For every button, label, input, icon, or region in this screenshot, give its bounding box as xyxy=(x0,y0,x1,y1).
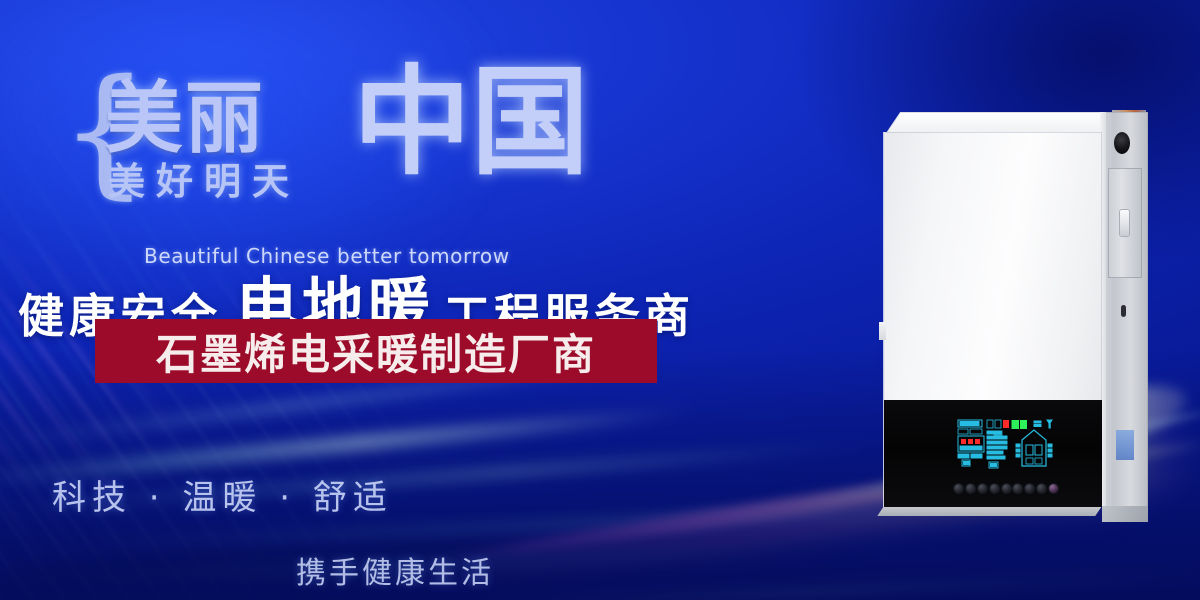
product-left-tab xyxy=(879,322,886,340)
product-side-slot xyxy=(1116,430,1134,460)
tagline-primary: 科技 · 温暖 · 舒适 xyxy=(52,470,393,519)
temp-up-button-icon[interactable] xyxy=(978,484,987,493)
promo-banner: { 美丽 中国 美好明天 Beautiful Chinese better to… xyxy=(0,0,1200,600)
product-side-hole xyxy=(1121,305,1126,317)
lock-button-icon[interactable] xyxy=(1037,484,1046,493)
product-vent-icon xyxy=(1114,132,1130,154)
red-banner-text: 石墨烯电采暖制造厂商 xyxy=(156,321,596,382)
logo-sub-line: 美好明天 xyxy=(108,151,300,205)
set-button-icon[interactable] xyxy=(1025,484,1034,493)
lcd-segments xyxy=(956,418,1056,480)
product-control-panel xyxy=(884,400,1102,507)
product-side-bottom-face xyxy=(1102,506,1148,522)
menu-button-icon[interactable] xyxy=(1049,484,1058,493)
lcd-display xyxy=(956,418,1056,480)
clock-button-icon[interactable] xyxy=(1002,484,1011,493)
temp-down-button-icon[interactable] xyxy=(990,484,999,493)
product-bottom-face xyxy=(877,506,1102,516)
timer-button-icon[interactable] xyxy=(1013,484,1022,493)
touch-button-row[interactable] xyxy=(954,482,1058,494)
tagline-secondary: 携手健康生活 xyxy=(296,548,494,592)
red-highlight-banner: 石墨烯电采暖制造厂商 xyxy=(95,319,657,383)
product-side-switch[interactable] xyxy=(1120,210,1129,236)
power-button-icon[interactable] xyxy=(954,484,963,493)
brand-logo: { 美丽 中国 美好明天 Beautiful Chinese better to… xyxy=(60,48,480,228)
mode-button-icon[interactable] xyxy=(966,484,975,493)
logo-main-big-text: 中国 xyxy=(353,26,589,197)
product-image xyxy=(862,110,1162,540)
